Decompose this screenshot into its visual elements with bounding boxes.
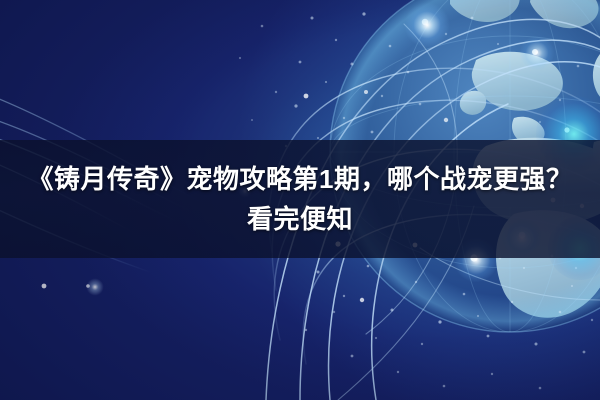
banner-image: 《铸月传奇》宠物攻略第1期，哪个战宠更强？看完便知 bbox=[0, 0, 600, 400]
banner-title: 《铸月传奇》宠物攻略第1期，哪个战宠更强？看完便知 bbox=[0, 140, 600, 258]
